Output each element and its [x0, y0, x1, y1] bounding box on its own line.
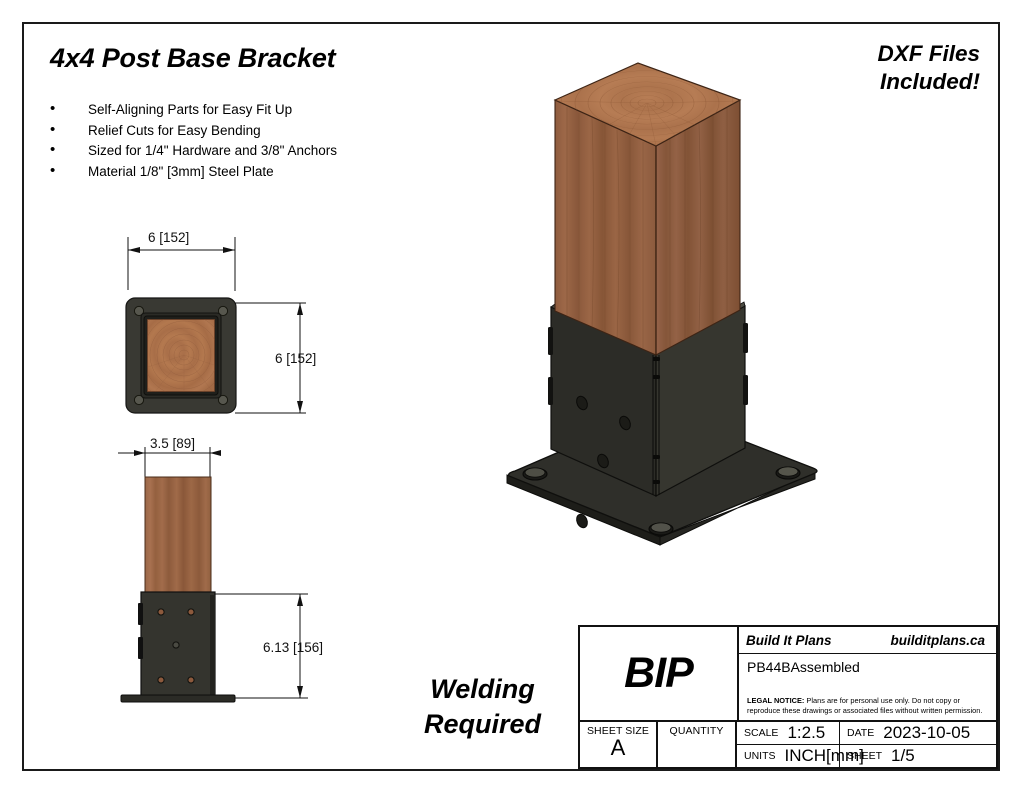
dxf-note-line1: DXF Files [877, 40, 980, 68]
scale-value: 1:2.5 [778, 723, 825, 743]
title-block-lower: SHEET SIZE A QUANTITY SCALE 1:2.5 DATE 2… [580, 722, 996, 767]
sheet-label: SHEET [847, 750, 882, 762]
quantity-label: QUANTITY [670, 722, 724, 737]
top-view-width-label: 6 [152] [148, 230, 189, 245]
quantity-cell: QUANTITY [658, 722, 737, 767]
page-title: 4x4 Post Base Bracket [50, 43, 335, 74]
title-block-spec-grid: SCALE 1:2.5 DATE 2023-10-05 UNITS INCH[m… [737, 722, 996, 767]
date-value: 2023-10-05 [874, 723, 970, 743]
welding-note-line2: Required [424, 707, 541, 742]
top-view-width-dimension [128, 237, 235, 291]
title-block-upper: BIP Build It Plans builditplans.ca PB44B… [580, 627, 996, 722]
base-plate-elevation [121, 695, 235, 702]
company-logo: BIP [580, 627, 739, 720]
welding-required-note: Welding Required [424, 672, 541, 742]
website-link[interactable]: builditplans.ca [890, 633, 989, 648]
side-view-drawing: 3.5 [89] 6.13 [156] [110, 437, 360, 712]
side-view-width-label: 3.5 [89] [150, 437, 195, 451]
units-sheet-row: UNITS INCH[mm] SHEET 1/5 [737, 745, 996, 767]
bracket-far-edge [210, 595, 215, 698]
side-view-height-label: 6.13 [156] [263, 640, 323, 655]
scale-cell: SCALE 1:2.5 [737, 722, 840, 744]
units-cell: UNITS INCH[mm] [737, 745, 840, 767]
company-name: Build It Plans [746, 633, 832, 648]
dxf-note-line2: Included! [877, 68, 980, 96]
brand-row: Build It Plans builditplans.ca [739, 627, 996, 654]
date-cell: DATE 2023-10-05 [840, 722, 996, 744]
legal-notice: LEGAL NOTICE: Plans are for personal use… [739, 696, 996, 720]
isometric-assembly-drawing [495, 55, 855, 590]
welding-note-line1: Welding [424, 672, 541, 707]
top-view-height-label: 6 [152] [275, 351, 316, 366]
sheet-size-value: A [611, 737, 626, 759]
list-item: Material 1/8" [3mm] Steel Plate [46, 162, 337, 183]
units-label: UNITS [744, 750, 776, 762]
iso-wood-post [529, 55, 765, 355]
post-growth-rings [148, 320, 215, 392]
dxf-files-note: DXF Files Included! [877, 40, 980, 96]
side-view-width-dimension [118, 447, 221, 477]
list-item: Sized for 1/4" Hardware and 3/8" Anchors [46, 141, 337, 162]
top-view-drawing: 6 [152] 6 [152] [110, 215, 360, 430]
part-number: PB44BAssembled [739, 654, 996, 696]
logo-text: BIP [624, 649, 693, 698]
date-label: DATE [847, 727, 874, 739]
sheet-value: 1/5 [882, 746, 915, 766]
sheet-size-cell: SHEET SIZE A [580, 722, 658, 767]
list-item: Relief Cuts for Easy Bending [46, 121, 337, 142]
sheet-number-cell: SHEET 1/5 [840, 745, 996, 767]
title-block: BIP Build It Plans builditplans.ca PB44B… [578, 625, 998, 769]
feature-list: Self-Aligning Parts for Easy Fit Up Reli… [46, 100, 337, 182]
title-block-info: Build It Plans builditplans.ca PB44BAsse… [739, 627, 996, 720]
legal-notice-label: LEGAL NOTICE: [747, 696, 804, 705]
drawing-sheet: 4x4 Post Base Bracket Self-Aligning Part… [0, 0, 1024, 791]
list-item: Self-Aligning Parts for Easy Fit Up [46, 100, 337, 121]
scale-date-row: SCALE 1:2.5 DATE 2023-10-05 [737, 722, 996, 745]
scale-label: SCALE [744, 727, 778, 739]
post-elevation [145, 477, 211, 595]
